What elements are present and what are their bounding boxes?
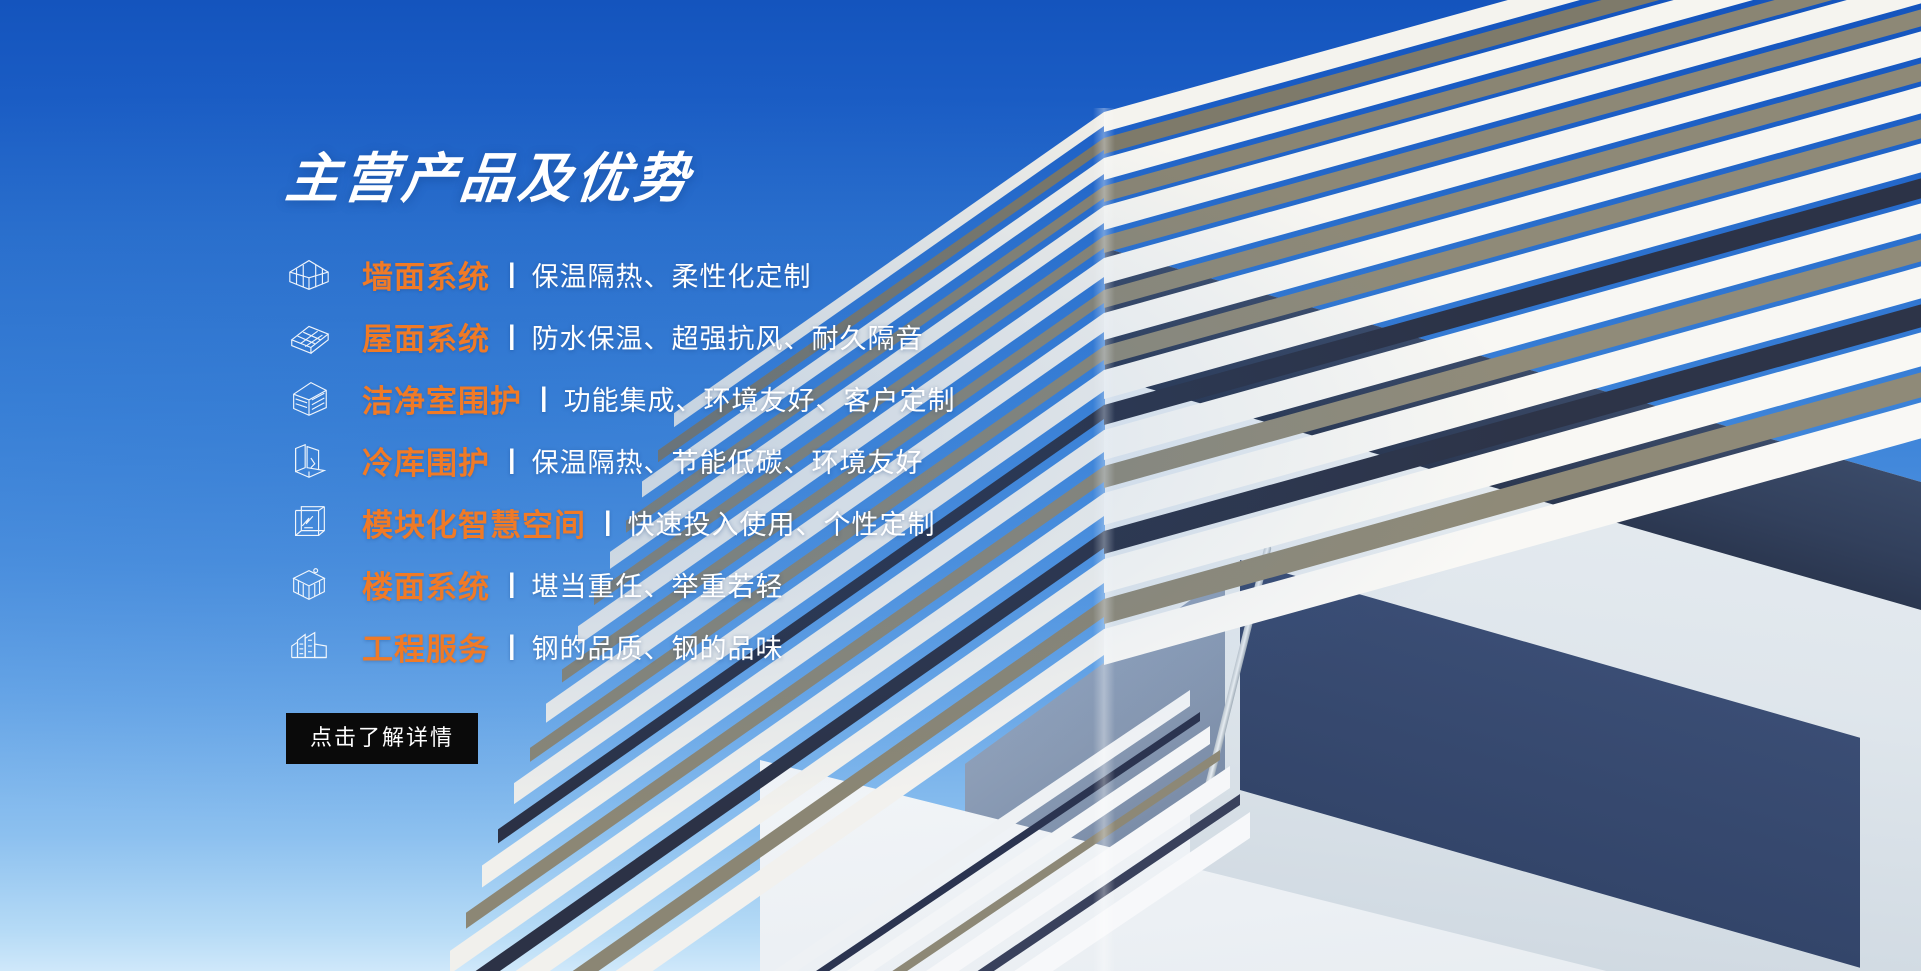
cleanroom-icon [286,376,332,420]
feature-name: 屋面系统 [362,314,490,359]
feature-separator: | [508,632,516,659]
modular-space-icon [286,500,332,544]
building-lower-band [330,794,1240,971]
feature-row[interactable]: 墙面系统|保温隔热、柔性化定制 [286,243,1436,305]
feature-row[interactable]: 模块化智慧空间|快速投入使用、个性定制 [286,491,1436,553]
feature-name: 墙面系统 [362,252,490,297]
building-lower-band [330,812,1250,971]
feature-row[interactable]: 楼面系统|堪当重任、举重若轻 [286,553,1436,615]
feature-separator: | [540,384,548,411]
feature-description: 保温隔热、节能低碳、环境友好 [532,441,924,480]
wall-system-icon [286,252,332,296]
banner-content: 主营产品及优势 墙面系统|保温隔热、柔性化定制屋面系统|防水保温、超强抗风、耐久… [286,150,1436,764]
building-lower-band [330,750,1220,971]
feature-separator: | [604,508,612,535]
feature-row[interactable]: 工程服务|钢的品质、钢的品味 [286,615,1436,677]
feature-description: 堪当重任、举重若轻 [532,565,784,604]
feature-description: 钢的品质、钢的品味 [532,627,784,666]
cold-storage-icon [286,438,332,482]
feature-row[interactable]: 洁净室围护|功能集成、环境友好、客户定制 [286,367,1436,429]
feature-description: 快速投入使用、个性定制 [628,503,936,542]
feature-list: 墙面系统|保温隔热、柔性化定制屋面系统|防水保温、超强抗风、耐久隔音洁净室围护|… [286,243,1436,677]
engineering-icon [286,624,332,668]
building-band [1104,0,1921,132]
feature-separator: | [508,260,516,287]
page-title: 主营产品及优势 [283,150,695,209]
floor-system-icon [286,562,332,606]
feature-separator: | [508,446,516,473]
feature-separator: | [508,570,516,597]
feature-description: 防水保温、超强抗风、耐久隔音 [532,317,924,356]
learn-more-button[interactable]: 点击了解详情 [286,713,478,764]
feature-description: 保温隔热、柔性化定制 [532,255,812,294]
feature-separator: | [508,322,516,349]
feature-name: 冷库围护 [362,438,490,483]
building-left-wall [430,742,1190,971]
feature-name: 模块化智慧空间 [362,500,586,545]
feature-name: 工程服务 [362,624,490,669]
feature-row[interactable]: 冷库围护|保温隔热、节能低碳、环境友好 [286,429,1436,491]
building-band [1104,0,1921,154]
roof-system-icon [286,314,332,358]
feature-name: 洁净室围护 [362,376,522,421]
building-lower-mass [760,760,1921,971]
feature-description: 功能集成、环境友好、客户定制 [564,379,956,418]
product-advantages-banner: 主营产品及优势 墙面系统|保温隔热、柔性化定制屋面系统|防水保温、超强抗风、耐久… [0,0,1921,971]
feature-row[interactable]: 屋面系统|防水保温、超强抗风、耐久隔音 [286,305,1436,367]
building-lower-band [330,766,1230,971]
feature-name: 楼面系统 [362,562,490,607]
